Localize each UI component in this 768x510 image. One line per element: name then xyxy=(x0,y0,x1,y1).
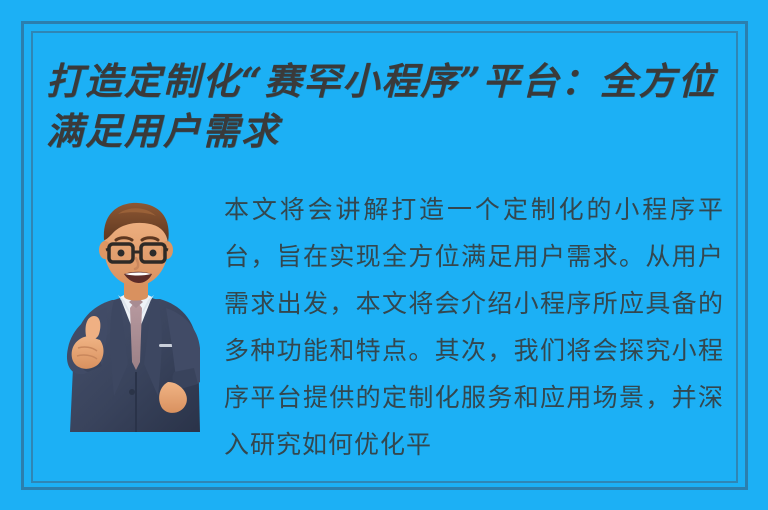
businessman-thumbs-up-illustration xyxy=(62,196,222,432)
poster-title: 打造定制化“赛罕小程序”平台：全方位满足用户需求 xyxy=(46,56,736,156)
poster-body-text: 本文将会讲解打造一个定制化的小程序平台，旨在实现全方位满足用户需求。从用户需求出… xyxy=(224,186,724,466)
businessman-svg xyxy=(62,196,222,432)
poster-canvas: 打造定制化“赛罕小程序”平台：全方位满足用户需求 xyxy=(0,0,768,510)
